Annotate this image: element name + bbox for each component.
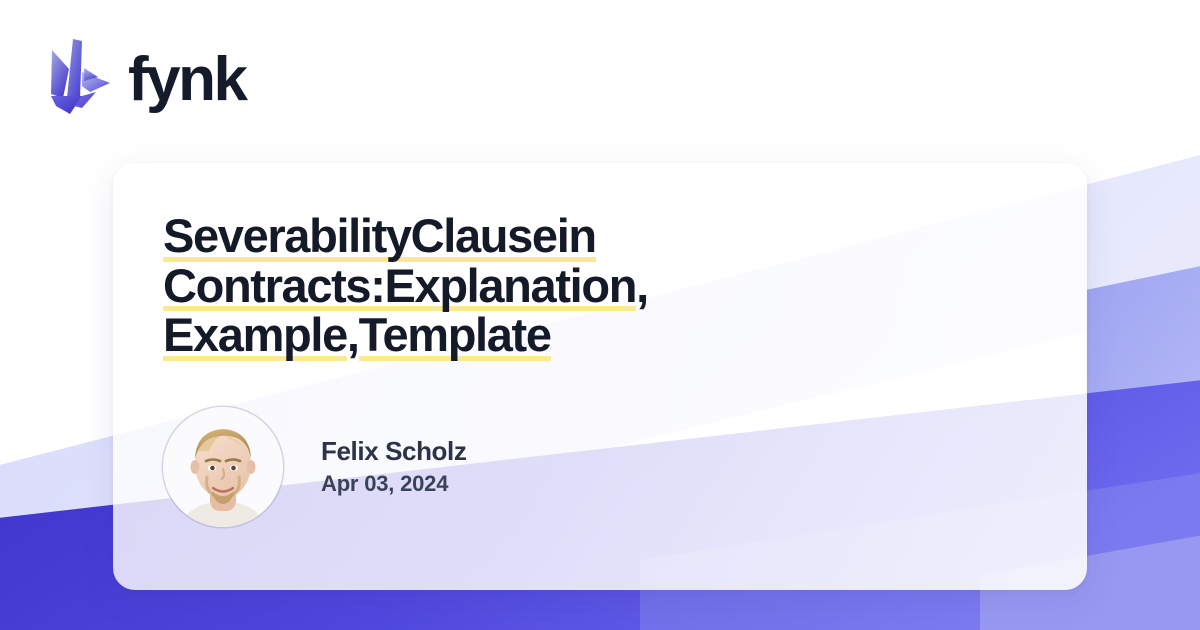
avatar — [163, 407, 283, 527]
publish-date: Apr 03, 2024 — [321, 470, 466, 498]
brand-logo[interactable]: fynk — [48, 36, 245, 120]
author-avatar-photo — [163, 407, 283, 527]
title-word: Severability — [163, 211, 411, 261]
origami-bird-logo-icon — [48, 36, 114, 120]
author-name: Felix Scholz — [321, 436, 466, 467]
title-word: Template — [359, 310, 551, 360]
title-punctuation: , — [347, 310, 359, 360]
title-word: Explanation — [385, 261, 637, 311]
page-title: Severability Clause in Contracts: Explan… — [163, 211, 763, 360]
title-word: Example — [163, 310, 347, 360]
title-word: Contracts: — [163, 261, 385, 311]
title-word: Clause — [411, 211, 557, 261]
title-word: in — [557, 211, 596, 261]
social-share-card: fynk Severability Clause in Contracts: E… — [0, 0, 1200, 630]
content-card: Severability Clause in Contracts: Explan… — [113, 163, 1087, 590]
author-block: Felix Scholz Apr 03, 2024 — [163, 407, 466, 527]
title-punctuation: , — [636, 261, 648, 311]
brand-wordmark: fynk — [128, 49, 245, 111]
